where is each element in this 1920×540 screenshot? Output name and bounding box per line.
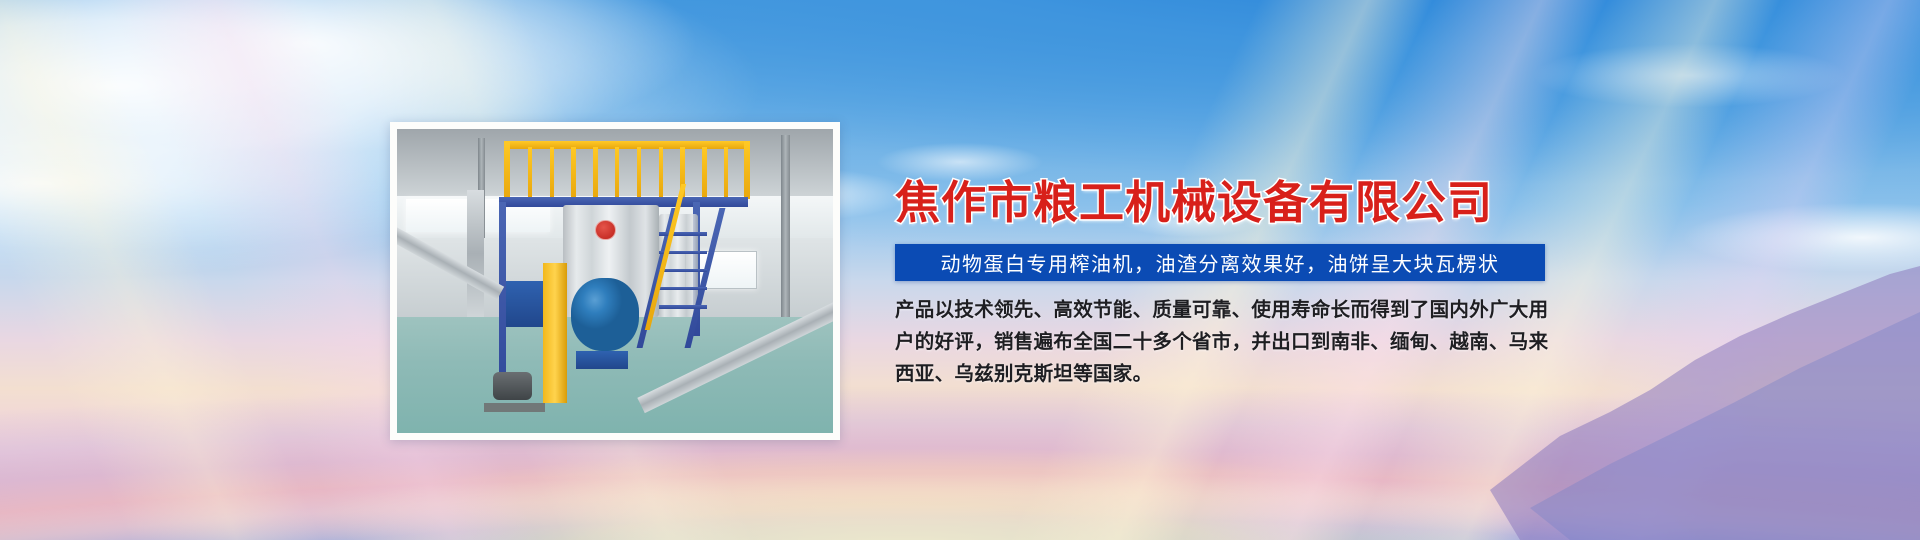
steel-column xyxy=(781,135,791,317)
factory-workshop-photo xyxy=(397,129,833,433)
window-pane xyxy=(406,199,476,232)
stair-step xyxy=(659,287,707,290)
subtitle-banner: 动物蛋白专用榨油机，油渣分离效果好，油饼呈大块瓦楞状 xyxy=(895,244,1545,281)
page-title: 焦作市粮工机械设备有限公司 xyxy=(895,166,1493,231)
machine-skid xyxy=(484,403,545,412)
mezzanine-post xyxy=(659,147,663,199)
yellow-feed-chute xyxy=(543,263,567,403)
mezzanine-post xyxy=(702,147,706,199)
electric-motor xyxy=(493,372,532,399)
mezzanine-post xyxy=(593,147,597,199)
mezzanine-handrail-top xyxy=(504,141,748,149)
oil-press-machine xyxy=(571,278,639,351)
mezzanine-post xyxy=(724,147,728,199)
mezzanine-post xyxy=(744,141,750,199)
mezzanine-post xyxy=(528,147,532,199)
subtitle-text: 动物蛋白专用榨油机，油渣分离效果好，油饼呈大块瓦楞状 xyxy=(941,248,1500,277)
vertical-duct xyxy=(467,190,484,318)
mountain-silhouette xyxy=(1490,240,1920,540)
mezzanine-post xyxy=(550,147,554,199)
mezzanine-post xyxy=(504,141,510,199)
stair-step xyxy=(659,305,707,308)
promotional-banner: 焦作市粮工机械设备有限公司 动物蛋白专用榨油机，油渣分离效果好，油饼呈大块瓦楞状… xyxy=(0,0,1920,540)
company-logo-icon xyxy=(595,220,615,240)
mezzanine-post xyxy=(637,147,641,199)
mezzanine-post xyxy=(571,147,575,199)
stair-step xyxy=(659,269,707,272)
stair-step xyxy=(659,232,707,235)
mezzanine-post xyxy=(615,147,619,199)
product-photo-card xyxy=(390,122,840,440)
company-description: 产品以技术领先、高效节能、质量可靠、使用寿命长而得到了国内外广大用户的好评，销售… xyxy=(895,294,1555,390)
machine-base xyxy=(576,351,628,369)
